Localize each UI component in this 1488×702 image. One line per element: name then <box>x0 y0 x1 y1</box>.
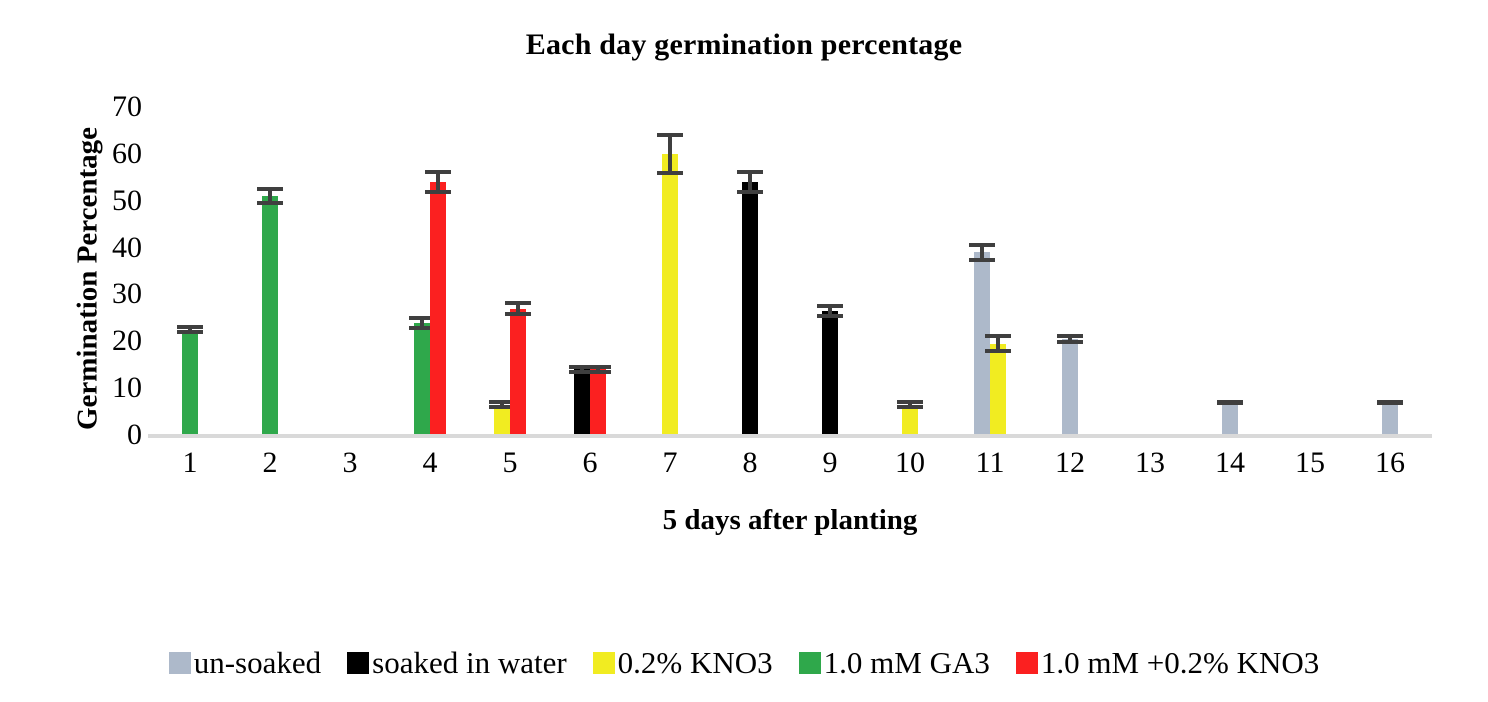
y-tick-label: 70 <box>80 92 142 122</box>
legend-item-un-soaked[interactable]: un-soaked <box>169 645 321 681</box>
x-tick-label: 16 <box>1375 446 1405 481</box>
bar-un-soaked-day-12 <box>1062 339 1078 435</box>
legend-label: 0.2% KNO3 <box>618 645 773 681</box>
bar-1-0-mm-0-2-kno3-day-6 <box>590 369 606 435</box>
legend-swatch-icon <box>169 652 191 674</box>
x-tick-label: 15 <box>1295 446 1325 481</box>
bar-1-0-mm-0-2-kno3-day-5 <box>510 309 526 436</box>
x-tick-label: 4 <box>423 446 438 481</box>
x-tick-label: 5 <box>503 446 518 481</box>
y-axis-tick-labels: 010203040506070 <box>60 0 142 702</box>
y-tick-label: 0 <box>80 420 142 450</box>
bar-soaked-in-water-day-9 <box>822 311 838 435</box>
x-tick-label: 12 <box>1055 446 1085 481</box>
x-tick-label: 2 <box>263 446 278 481</box>
bar-1-0-mm-ga3-day-2 <box>262 196 278 435</box>
x-tick-label: 7 <box>663 446 678 481</box>
legend-item-1-0-mm-0-2-kno3[interactable]: 1.0 mM +0.2% KNO3 <box>1016 645 1319 681</box>
y-tick-label: 30 <box>80 279 142 309</box>
bar-soaked-in-water-day-6 <box>574 369 590 435</box>
legend-label: un-soaked <box>194 645 321 681</box>
legend-swatch-icon <box>799 652 821 674</box>
bar-un-soaked-day-14 <box>1222 402 1238 435</box>
y-tick-label: 40 <box>80 233 142 263</box>
x-axis-tick-labels: 12345678910111213141516 <box>150 446 1430 490</box>
legend-swatch-icon <box>347 652 369 674</box>
x-axis-baseline <box>148 434 1432 438</box>
legend-label: 1.0 mM GA3 <box>824 645 990 681</box>
x-tick-label: 11 <box>976 446 1005 481</box>
x-tick-label: 13 <box>1135 446 1165 481</box>
bar-1-0-mm-ga3-day-1 <box>182 330 198 435</box>
bar-0-2-kno3-day-7 <box>662 154 678 435</box>
plot-area <box>150 107 1430 435</box>
legend-swatch-icon <box>593 652 615 674</box>
bar-un-soaked-day-11 <box>974 252 990 435</box>
x-tick-label: 9 <box>823 446 838 481</box>
bar-0-2-kno3-day-11 <box>990 344 1006 435</box>
x-tick-label: 8 <box>743 446 758 481</box>
legend-item-soaked-in-water[interactable]: soaked in water <box>347 645 567 681</box>
bar-un-soaked-day-16 <box>1382 402 1398 435</box>
y-tick-label: 50 <box>80 186 142 216</box>
x-tick-label: 1 <box>183 446 198 481</box>
legend-swatch-icon <box>1016 652 1038 674</box>
legend-label: 1.0 mM +0.2% KNO3 <box>1041 645 1319 681</box>
y-tick-label: 60 <box>80 139 142 169</box>
x-tick-label: 14 <box>1215 446 1245 481</box>
legend-item-1-0-mm-ga3[interactable]: 1.0 mM GA3 <box>799 645 990 681</box>
legend-item-0-2-kno3[interactable]: 0.2% KNO3 <box>593 645 773 681</box>
chart-legend: un-soakedsoaked in water0.2% KNO31.0 mM … <box>0 645 1488 681</box>
y-tick-label: 10 <box>80 373 142 403</box>
x-tick-label: 6 <box>583 446 598 481</box>
bar-soaked-in-water-day-8 <box>742 182 758 435</box>
x-tick-label: 3 <box>343 446 358 481</box>
y-tick-label: 20 <box>80 326 142 356</box>
germination-bar-chart: Each day germination percentage Germinat… <box>0 0 1488 702</box>
x-axis-title: 5 days after planting <box>150 504 1430 537</box>
legend-label: soaked in water <box>372 645 567 681</box>
bar-1-0-mm-0-2-kno3-day-4 <box>430 182 446 435</box>
chart-title: Each day germination percentage <box>0 28 1488 62</box>
x-tick-label: 10 <box>895 446 925 481</box>
bar-1-0-mm-ga3-day-4 <box>414 323 430 435</box>
